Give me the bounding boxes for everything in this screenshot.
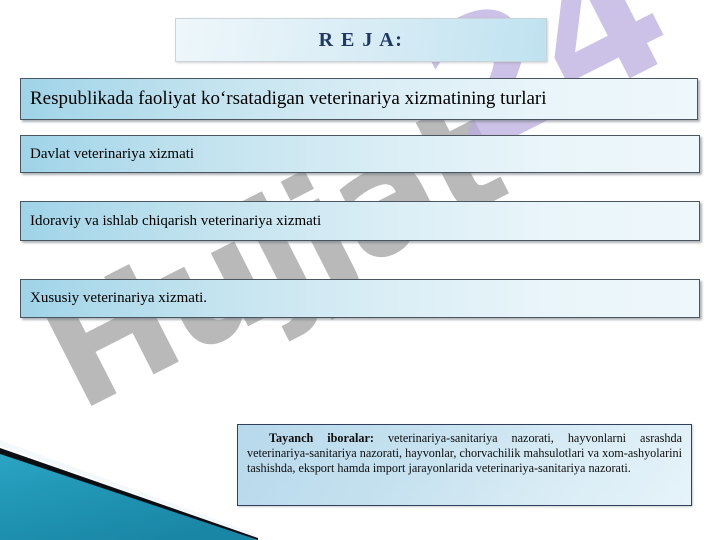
slide-canvas: Hujjat 24 R E J A: Respublikada faoliyat… [0, 0, 720, 540]
agenda-item-3[interactable]: Idoraviy va ishlab chiqarish veterinariy… [20, 201, 700, 241]
agenda-item-label: Davlat veterinariya xizmati [21, 146, 194, 163]
key-terms-paragraph: Tayanch iboralar: veterinariya-sanitariy… [247, 431, 682, 477]
agenda-item-2[interactable]: Davlat veterinariya xizmati [20, 135, 700, 173]
agenda-item-label: Xususiy veterinariya xizmati. [21, 290, 207, 307]
agenda-item-1[interactable]: Respublikada faoliyat ko‘rsatadigan vete… [20, 78, 698, 120]
key-terms-box: Tayanch iboralar: veterinariya-sanitariy… [237, 424, 692, 506]
agenda-item-4[interactable]: Xususiy veterinariya xizmati. [20, 279, 700, 318]
agenda-item-label: Idoraviy va ishlab chiqarish veterinariy… [21, 213, 321, 230]
key-terms-label: Tayanch iboralar: [269, 431, 374, 445]
slide-content: R E J A: Respublikada faoliyat ko‘rsatad… [0, 0, 720, 540]
page-title: R E J A: [319, 29, 404, 52]
agenda-item-label: Respublikada faoliyat ko‘rsatadigan vete… [21, 88, 547, 110]
slide-title-box: R E J A: [175, 18, 547, 62]
